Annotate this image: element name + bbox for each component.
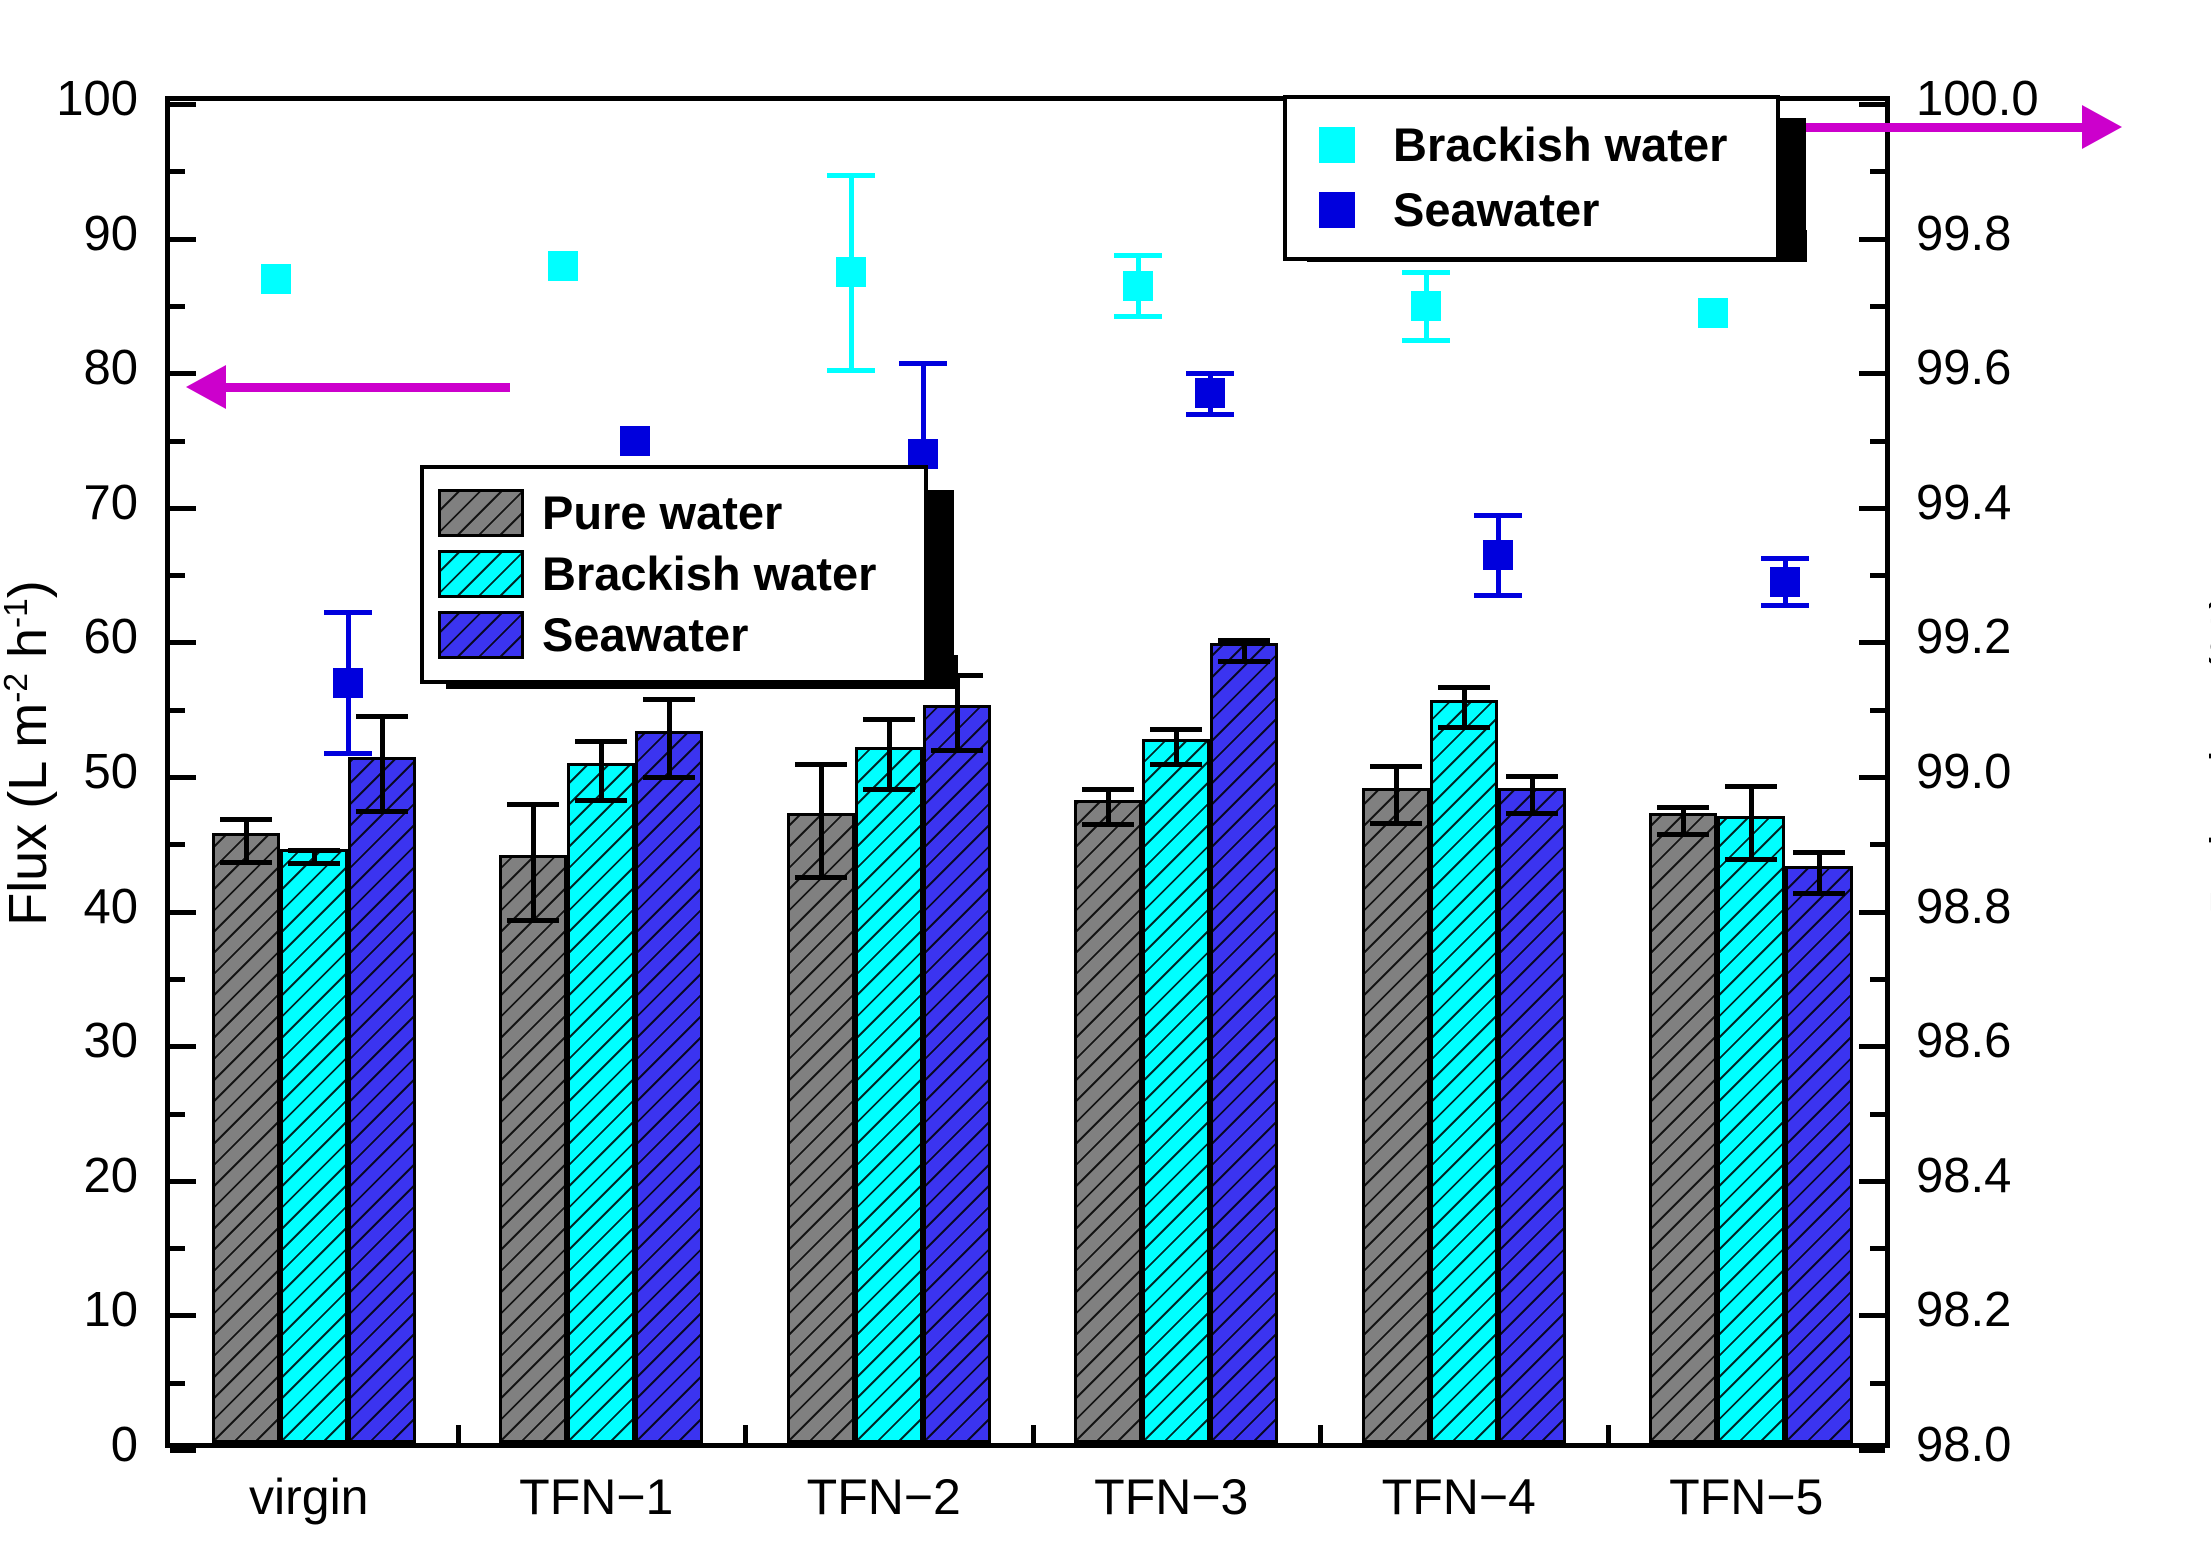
scatter-error-cap bbox=[1761, 556, 1809, 561]
bar-brack-virgin[interactable] bbox=[280, 849, 348, 1443]
right-axis-title: Rejection (%) bbox=[2199, 403, 2211, 1103]
bar-error-cap bbox=[1218, 659, 1270, 664]
scatter-error-cap bbox=[1474, 593, 1522, 598]
bar-brack-TFN3[interactable] bbox=[1142, 739, 1210, 1443]
scatter-error-cap bbox=[324, 751, 372, 756]
right-axis-tick bbox=[1870, 304, 1885, 309]
right-axis-tick-label: 99.2 bbox=[1916, 609, 2011, 665]
bar-error-bar bbox=[1174, 729, 1179, 764]
scatter-error-cap bbox=[324, 610, 372, 615]
bar-error-cap bbox=[220, 817, 272, 822]
scatter-error-cap bbox=[1114, 314, 1162, 319]
right-axis-tick-labels: 98.098.298.498.698.899.099.299.499.699.8… bbox=[1902, 96, 2202, 1448]
bar-legend-label: Brackish water bbox=[542, 546, 876, 601]
left-axis-tick bbox=[170, 1112, 185, 1117]
scatter-error-cap bbox=[827, 173, 875, 178]
bar-legend-label: Pure water bbox=[542, 485, 782, 540]
left-axis-tick bbox=[170, 1448, 196, 1453]
scatter-error-cap bbox=[1402, 270, 1450, 275]
right-axis-tick-label: 99.8 bbox=[1916, 206, 2011, 262]
right-axis-tick bbox=[1859, 910, 1885, 915]
bar-legend-item[interactable]: Seawater bbox=[438, 607, 908, 662]
bar-error-bar bbox=[1749, 786, 1754, 859]
bar-pure-TFN1[interactable] bbox=[499, 855, 567, 1443]
bar-error-bar bbox=[244, 819, 249, 862]
x-axis-label-TFN3: TFN−3 bbox=[1094, 1468, 1248, 1526]
right-axis-tick bbox=[1859, 1179, 1885, 1184]
bar-error-cap bbox=[863, 717, 915, 722]
right-axis-tick bbox=[1870, 842, 1885, 847]
bar-error-cap bbox=[1082, 822, 1134, 827]
bar-sea-TFN3[interactable] bbox=[1210, 643, 1278, 1443]
left-axis-title-sup2: -1 bbox=[0, 598, 35, 628]
bar-legend-item[interactable]: Pure water bbox=[438, 485, 908, 540]
bar-error-cap bbox=[288, 861, 340, 866]
scatter-legend-shadow-right bbox=[1780, 118, 1806, 260]
left-axis-tick bbox=[170, 439, 185, 444]
left-axis-tick bbox=[170, 506, 196, 511]
right-axis-tick bbox=[1870, 169, 1885, 174]
left-axis-tick bbox=[170, 1044, 196, 1049]
right-axis-tick bbox=[1870, 439, 1885, 444]
right-axis-tick-label: 98.8 bbox=[1916, 879, 2011, 935]
scatter-legend-item[interactable]: Brackish water bbox=[1291, 117, 1766, 172]
scatter-point-brackish-virgin[interactable] bbox=[261, 264, 291, 294]
bar-error-bar bbox=[1242, 640, 1247, 662]
left-axis-title-end: ) bbox=[0, 580, 58, 598]
bar-brack-TFN4[interactable] bbox=[1430, 700, 1498, 1443]
left-axis-tick-label: 0 bbox=[111, 1417, 138, 1473]
bar-error-cap bbox=[575, 798, 627, 803]
bar-error-cap bbox=[1082, 787, 1134, 792]
bar-error-cap bbox=[643, 775, 695, 780]
bar-error-cap bbox=[1150, 762, 1202, 767]
left-axis-tick-label: 70 bbox=[83, 475, 138, 531]
right-axis-tick bbox=[1870, 977, 1885, 982]
bar-error-bar bbox=[1681, 807, 1686, 834]
bar-error-bar bbox=[819, 764, 824, 877]
right-axis-arrow-line bbox=[1790, 123, 2085, 132]
bar-error-bar bbox=[531, 804, 536, 920]
right-axis-tick-label: 99.4 bbox=[1916, 475, 2011, 531]
right-axis-tick bbox=[1870, 1246, 1885, 1251]
right-axis-tick-label: 98.0 bbox=[1916, 1417, 2011, 1473]
left-axis-tick-label: 100 bbox=[56, 71, 138, 127]
scatter-legend-label: Brackish water bbox=[1393, 117, 1727, 172]
seawater-swatch bbox=[438, 611, 524, 659]
right-axis-tick bbox=[1859, 371, 1885, 376]
x-axis-tick bbox=[456, 1425, 461, 1443]
right-axis-tick bbox=[1859, 1448, 1885, 1453]
left-axis-tick-label: 40 bbox=[83, 879, 138, 935]
bar-legend-shadow-right bbox=[928, 490, 954, 686]
left-axis-arrow-line bbox=[225, 383, 510, 392]
left-axis-arrow-head-icon bbox=[186, 365, 226, 409]
right-axis-arrow-head-icon bbox=[2082, 105, 2122, 149]
scatter-legend-label: Seawater bbox=[1393, 182, 1599, 237]
left-axis-tick bbox=[170, 1246, 185, 1251]
scatter-error-cap bbox=[1114, 253, 1162, 258]
pure-water-swatch bbox=[438, 489, 524, 537]
right-axis-tick bbox=[1859, 237, 1885, 242]
left-axis-tick bbox=[170, 169, 185, 174]
scatter-legend-item[interactable]: Seawater bbox=[1291, 182, 1766, 237]
bar-error-bar bbox=[1817, 852, 1822, 892]
right-axis-tick-label: 99.6 bbox=[1916, 340, 2011, 396]
x-axis-tick bbox=[1318, 1425, 1323, 1443]
scatter-point-seawater-TFN1[interactable] bbox=[620, 426, 650, 456]
right-axis-tick-label: 98.4 bbox=[1916, 1148, 2011, 1204]
scatter-point-brackish-TFN3[interactable] bbox=[1123, 271, 1153, 301]
left-axis-tick bbox=[170, 708, 185, 713]
bar-sea-TFN5[interactable] bbox=[1785, 866, 1853, 1443]
left-axis-tick bbox=[170, 1179, 196, 1184]
bar-error-cap bbox=[795, 875, 847, 880]
bar-pure-virgin[interactable] bbox=[212, 833, 280, 1443]
bar-legend[interactable]: Pure waterBrackish waterSeawater bbox=[420, 465, 928, 684]
right-axis-tick-label: 100.0 bbox=[1916, 71, 2039, 127]
scatter-error-cap bbox=[1402, 338, 1450, 343]
scatter-point-brackish-TFN2[interactable] bbox=[836, 257, 866, 287]
scatter-error-cap bbox=[899, 361, 947, 366]
right-axis-tick bbox=[1870, 1112, 1885, 1117]
right-axis-tick bbox=[1859, 640, 1885, 645]
bar-error-cap bbox=[1150, 727, 1202, 732]
bar-error-cap bbox=[1657, 832, 1709, 837]
x-axis-tick bbox=[743, 1425, 748, 1443]
scatter-point-brackish-TFN1[interactable] bbox=[548, 251, 578, 281]
bar-brack-TFN5[interactable] bbox=[1717, 816, 1785, 1443]
brackish-water-swatch bbox=[438, 550, 524, 598]
bar-error-cap bbox=[356, 714, 408, 719]
scatter-legend[interactable]: Brackish waterSeawater bbox=[1283, 95, 1780, 261]
left-axis-tick-label: 20 bbox=[83, 1148, 138, 1204]
bar-error-bar bbox=[1462, 687, 1467, 727]
bar-error-cap bbox=[1370, 764, 1422, 769]
bar-pure-TFN5[interactable] bbox=[1649, 813, 1717, 1443]
bar-error-cap bbox=[1370, 821, 1422, 826]
bar-error-cap bbox=[507, 918, 559, 923]
left-axis-tick bbox=[170, 102, 196, 107]
bar-sea-TFN4[interactable] bbox=[1498, 788, 1566, 1444]
right-axis-tick bbox=[1870, 708, 1885, 713]
left-axis-tick bbox=[170, 573, 185, 578]
right-axis-tick bbox=[1859, 775, 1885, 780]
bar-sea-virgin[interactable] bbox=[348, 757, 416, 1443]
bar-error-bar bbox=[1530, 776, 1535, 814]
left-axis-tick-label: 10 bbox=[83, 1282, 138, 1338]
bar-pure-TFN4[interactable] bbox=[1362, 788, 1430, 1444]
right-axis-tick-label: 99.0 bbox=[1916, 744, 2011, 800]
bar-error-cap bbox=[288, 848, 340, 853]
bar-error-cap bbox=[1725, 857, 1777, 862]
bar-error-cap bbox=[795, 762, 847, 767]
scatter-point-seawater-TFN5[interactable] bbox=[1770, 567, 1800, 597]
bar-error-bar bbox=[599, 741, 604, 800]
x-axis-label-TFN1: TFN−1 bbox=[519, 1468, 673, 1526]
brackish-water-marker bbox=[1319, 127, 1355, 163]
bar-error-cap bbox=[1725, 784, 1777, 789]
bar-brack-TFN1[interactable] bbox=[567, 763, 635, 1443]
left-axis-tick bbox=[170, 775, 196, 780]
scatter-error-cap bbox=[1474, 513, 1522, 518]
left-axis-title-main: Flux (L m bbox=[0, 703, 58, 926]
x-axis-label-TFN2: TFN−2 bbox=[807, 1468, 961, 1526]
left-axis-title-sup1: -2 bbox=[0, 673, 35, 703]
scatter-point-brackish-TFN5[interactable] bbox=[1698, 298, 1728, 328]
bar-legend-item[interactable]: Brackish water bbox=[438, 546, 908, 601]
bar-pure-TFN2[interactable] bbox=[787, 813, 855, 1443]
left-axis-tick bbox=[170, 304, 185, 309]
left-axis-title: Flux (L m-2 h-1) bbox=[0, 403, 59, 1103]
bar-error-cap bbox=[507, 802, 559, 807]
bar-error-cap bbox=[643, 697, 695, 702]
left-axis-tick bbox=[170, 237, 196, 242]
left-axis-tick bbox=[170, 842, 185, 847]
scatter-point-brackish-TFN4[interactable] bbox=[1411, 291, 1441, 321]
left-axis-tick-label: 30 bbox=[83, 1013, 138, 1069]
bar-error-cap bbox=[1657, 805, 1709, 810]
bar-sea-TFN1[interactable] bbox=[635, 731, 703, 1443]
left-axis-title-mid: h bbox=[0, 628, 58, 673]
scatter-point-seawater-TFN4[interactable] bbox=[1483, 540, 1513, 570]
bar-error-bar bbox=[1106, 789, 1111, 824]
bar-error-bar bbox=[667, 699, 672, 777]
bar-pure-TFN3[interactable] bbox=[1074, 800, 1142, 1443]
left-axis-tick-label: 50 bbox=[83, 744, 138, 800]
bar-error-bar bbox=[1394, 766, 1399, 823]
bar-error-cap bbox=[1793, 850, 1845, 855]
bar-error-cap bbox=[356, 809, 408, 814]
bar-sea-TFN2[interactable] bbox=[923, 705, 991, 1443]
bar-error-cap bbox=[1793, 891, 1845, 896]
bar-error-cap bbox=[1218, 638, 1270, 643]
scatter-point-seawater-virgin[interactable] bbox=[333, 668, 363, 698]
scatter-error-cap bbox=[1761, 603, 1809, 608]
left-axis-tick-label: 90 bbox=[83, 206, 138, 262]
left-axis-tick bbox=[170, 1381, 185, 1386]
left-axis-tick bbox=[170, 1313, 196, 1318]
left-axis-tick bbox=[170, 640, 196, 645]
right-axis-tick bbox=[1859, 1044, 1885, 1049]
bar-error-cap bbox=[220, 860, 272, 865]
right-axis-tick-label: 98.2 bbox=[1916, 1282, 2011, 1338]
bar-error-bar bbox=[887, 719, 892, 789]
x-axis-label-TFN5: TFN−5 bbox=[1669, 1468, 1823, 1526]
scatter-error-cap bbox=[1186, 412, 1234, 417]
right-axis-tick-label: 98.6 bbox=[1916, 1013, 2011, 1069]
bar-legend-label: Seawater bbox=[542, 607, 748, 662]
bar-error-cap bbox=[931, 748, 983, 753]
bar-brack-TFN2[interactable] bbox=[855, 747, 923, 1443]
bar-error-bar bbox=[380, 716, 385, 810]
left-axis-tick-label: 60 bbox=[83, 609, 138, 665]
seawater-marker bbox=[1319, 192, 1355, 228]
bar-error-cap bbox=[575, 739, 627, 744]
left-axis-tick-label: 80 bbox=[83, 340, 138, 396]
bar-error-cap bbox=[1506, 811, 1558, 816]
x-axis-tick bbox=[1031, 1425, 1036, 1443]
bar-error-cap bbox=[1438, 725, 1490, 730]
bar-error-cap bbox=[1506, 774, 1558, 779]
bar-error-cap bbox=[863, 787, 915, 792]
bar-error-cap bbox=[1438, 685, 1490, 690]
right-axis-tick bbox=[1859, 102, 1885, 107]
x-axis-tick bbox=[1606, 1425, 1611, 1443]
right-axis-tick bbox=[1870, 573, 1885, 578]
plot-area bbox=[165, 96, 1890, 1448]
x-axis-label-virgin: virgin bbox=[249, 1468, 368, 1526]
right-axis-tick bbox=[1859, 506, 1885, 511]
scatter-point-seawater-TFN3[interactable] bbox=[1195, 378, 1225, 408]
scatter-error-cap bbox=[1186, 371, 1234, 376]
scatter-error-cap bbox=[827, 368, 875, 373]
x-axis-label-TFN4: TFN−4 bbox=[1382, 1468, 1536, 1526]
chart-figure: 0102030405060708090100 98.098.298.498.69… bbox=[0, 0, 2211, 1557]
left-axis-tick bbox=[170, 977, 185, 982]
right-axis-tick bbox=[1870, 1381, 1885, 1386]
left-axis-tick bbox=[170, 910, 196, 915]
right-axis-tick bbox=[1859, 1313, 1885, 1318]
